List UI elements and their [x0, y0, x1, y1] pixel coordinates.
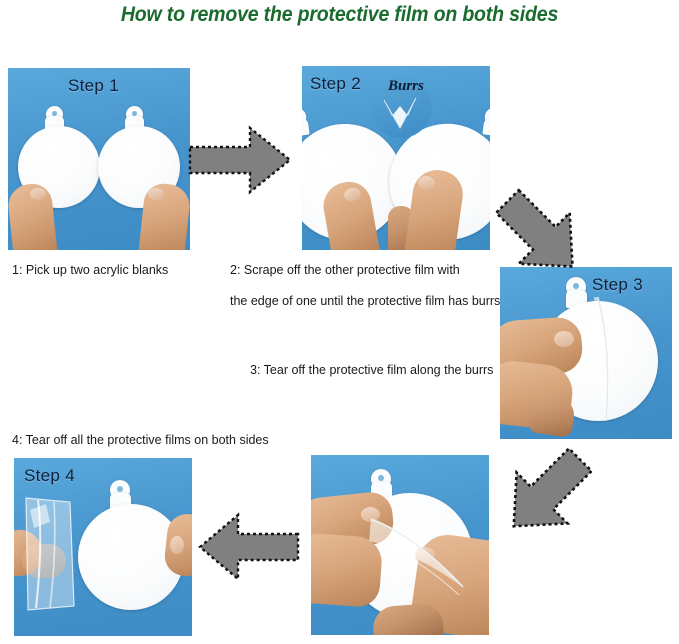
- peeling-film: [363, 509, 473, 619]
- hand-right: [138, 182, 190, 250]
- removed-film: [16, 492, 80, 616]
- fingernail-index: [554, 331, 574, 347]
- peeling-film: [580, 295, 620, 425]
- page-title: How to remove the protective film on bot…: [24, 3, 655, 27]
- arrow-down-left-step3-to-peel: [492, 440, 602, 546]
- arrow-down-right-step2-to-step3: [488, 182, 592, 286]
- caption-step-3: 3: Tear off the protective film along th…: [250, 357, 493, 384]
- caption-step-2-line-1: 2: Scrape off the other protective film …: [230, 257, 460, 284]
- step-2-label: Step 2: [310, 74, 361, 94]
- thumbnail-right: [148, 188, 164, 200]
- caption-step-2-line-2: the edge of one until the protective fil…: [230, 288, 500, 315]
- step-4-label: Step 4: [24, 466, 75, 486]
- step-peel-photo: [311, 455, 489, 635]
- thumbnail-left: [30, 188, 46, 200]
- step-4-photo: Step 4: [14, 458, 192, 636]
- step-1-label: Step 1: [68, 76, 119, 96]
- step-3-label: Step 3: [592, 275, 643, 295]
- arrow-right-step1-to-step2: [186, 118, 294, 202]
- step-1-photo: Step 1: [8, 68, 190, 250]
- step-2-photo: Burrs Step 2: [302, 66, 490, 250]
- burrs-callout-label: Burrs: [388, 78, 424, 95]
- step-3-photo: Step 3: [500, 267, 672, 439]
- caption-step-4: 4: Tear off all the protective films on …: [12, 427, 269, 454]
- fingernail-right: [170, 536, 184, 554]
- caption-step-1: 1: Pick up two acrylic blanks: [12, 257, 168, 284]
- arrow-left-peel-to-step4: [196, 505, 302, 589]
